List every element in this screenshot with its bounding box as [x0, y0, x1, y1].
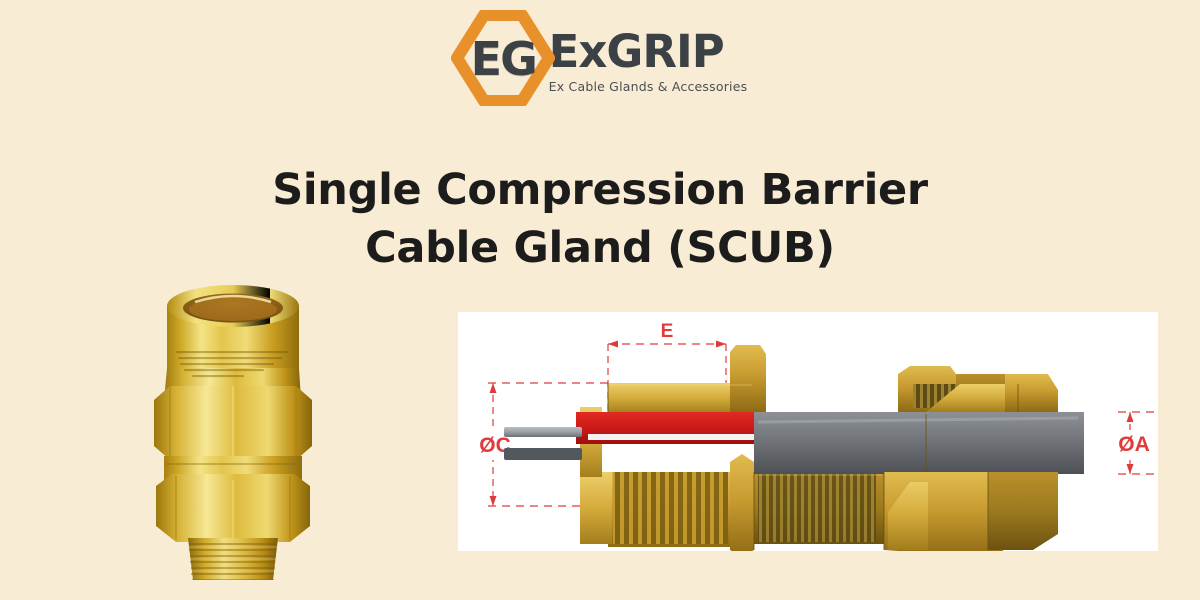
entry-flange	[730, 345, 766, 412]
brand-wordmark: ExGRIP	[549, 29, 750, 74]
thread-middle	[758, 472, 876, 542]
photo-thread-lines	[189, 544, 277, 580]
outlet-cone-lower	[988, 472, 1058, 550]
dimension-label-oa: ØA	[1118, 433, 1150, 456]
left-end-cap	[580, 472, 612, 544]
brand-tagline: Ex Cable Glands & Accessories	[549, 79, 750, 94]
poster-canvas: EG ExGRIP Ex Cable Glands & Accessories …	[0, 0, 1200, 600]
dimension-oa: ØA	[1113, 412, 1158, 474]
conductor-2	[504, 448, 582, 460]
conductor-1	[504, 427, 582, 437]
title-line-1: Single Compression Barrier	[272, 165, 928, 215]
conductor-insulation	[588, 434, 756, 440]
photo-bore-inner	[189, 298, 277, 321]
brand-logo: EG ExGRIP Ex Cable Glands & Accessories	[0, 8, 1200, 108]
eg-monogram: EG	[471, 36, 536, 82]
outlet-shoulder	[1005, 374, 1058, 412]
thread-lower-left	[613, 472, 728, 544]
center-hex-nut	[730, 454, 754, 551]
product-photo	[140, 250, 325, 580]
dimension-label-e: E	[661, 321, 674, 342]
hexagon-logo-icon: EG	[451, 10, 555, 106]
technical-drawing-panel: E ØC ØA	[458, 312, 1158, 551]
gland-cross-section	[504, 345, 1084, 551]
